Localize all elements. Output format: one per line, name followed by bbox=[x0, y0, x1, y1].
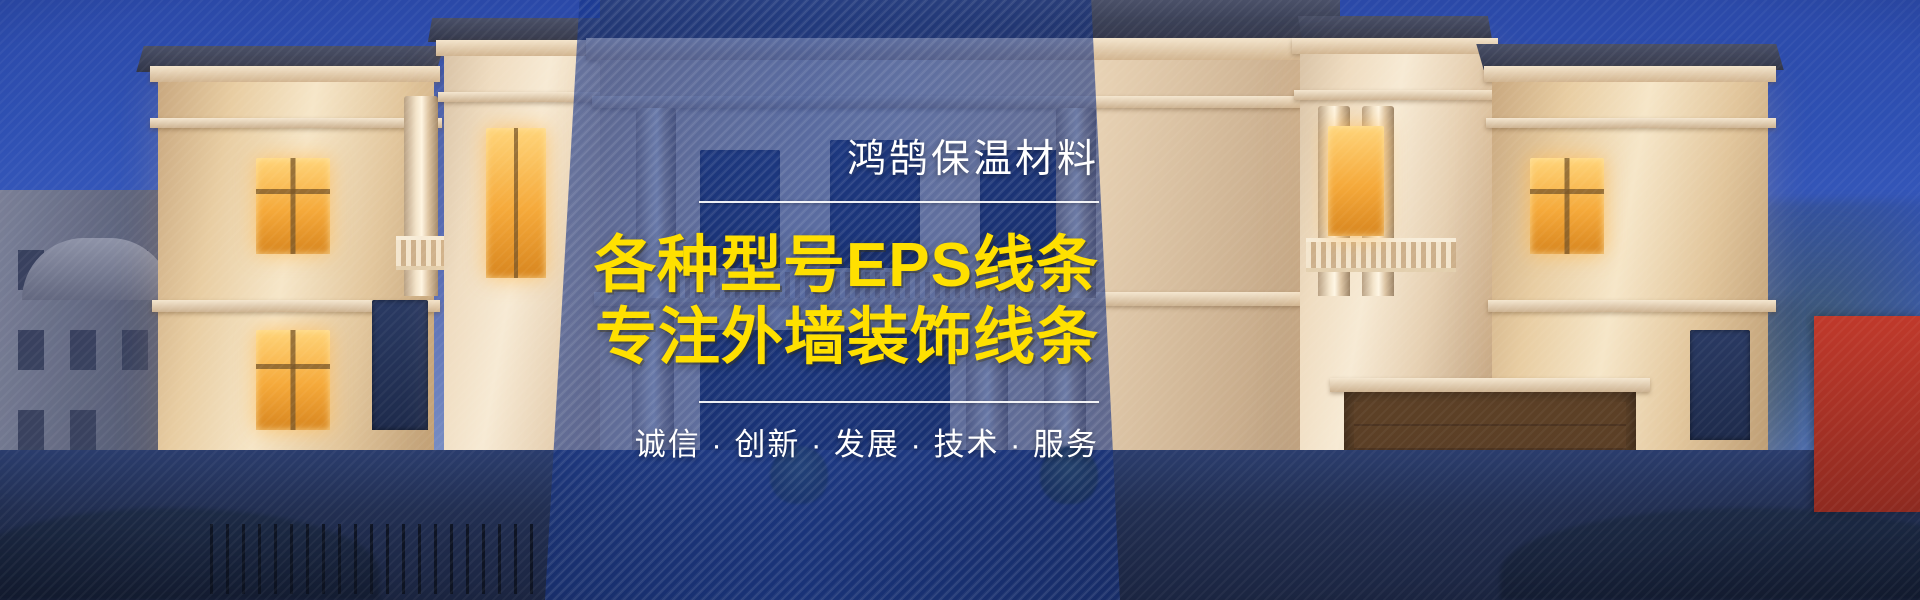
banner-content: 鸿鹄保温材料 各种型号EPS线条 专注外墙装饰线条 诚信 · 创新 · 发展 ·… bbox=[560, 0, 1105, 600]
divider-bottom bbox=[699, 401, 1099, 403]
divider-top bbox=[699, 201, 1099, 203]
promo-banner: 鸿鹄保温材料 各种型号EPS线条 专注外墙装饰线条 诚信 · 创新 · 发展 ·… bbox=[0, 0, 1920, 600]
headline-line-1: 各种型号EPS线条 bbox=[594, 233, 1099, 299]
brand-name: 鸿鹄保温材料 bbox=[847, 140, 1099, 179]
headline-line-2: 专注外墙装饰线条 bbox=[595, 305, 1099, 371]
tagline: 诚信 · 创新 · 发展 · 技术 · 服务 bbox=[635, 429, 1099, 460]
